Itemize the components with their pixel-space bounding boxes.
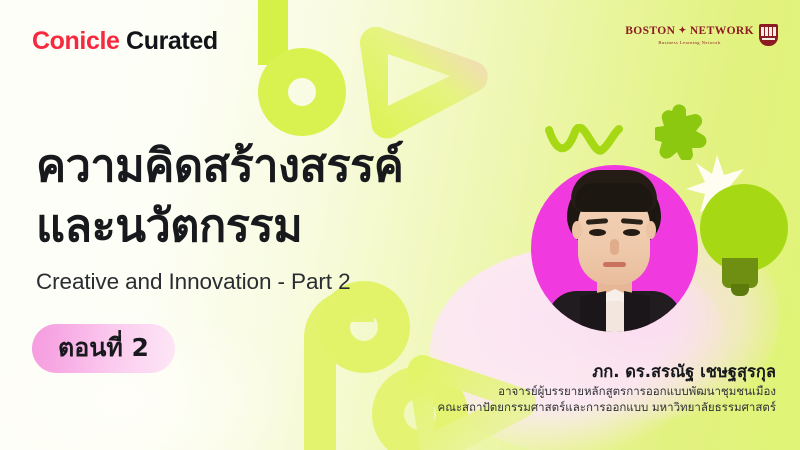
- puzzle-piece-shape: [655, 104, 713, 160]
- starburst-shape: [686, 155, 748, 217]
- course-title-th-line1: ความคิดสร้างสรรค์: [36, 136, 506, 196]
- boston-network-name: BOSTON ✦ NETWORK: [625, 25, 754, 38]
- network-word: NETWORK: [690, 25, 754, 37]
- conicle-wordmark: Conicle: [32, 27, 120, 55]
- course-banner-card: Conicle Curated BOSTON ✦ NETWORK Busines…: [0, 0, 800, 450]
- spiral-six-shape-bottom-ring: [318, 281, 410, 373]
- conicle-curated-logo: Conicle Curated: [32, 29, 218, 54]
- cream-blob-shape: [0, 300, 290, 450]
- speaker-credit-block: ภก. ดร.สรณัฐ เชษฐสุรกุล อาจารย์ผู้บรรยาย…: [438, 362, 777, 416]
- lightbulb-base-shape: [722, 258, 758, 288]
- episode-badge: ตอนที่ 2: [32, 324, 175, 373]
- course-title-th-line2: และนวัตกรรม: [36, 196, 506, 256]
- speaker-portrait-avatar: [531, 165, 698, 332]
- curated-wordmark: Curated: [126, 27, 218, 55]
- squiggle-shape: [545, 124, 623, 158]
- spiral-six-shape-top-ring: [258, 48, 346, 136]
- speaker-name: ภก. ดร.สรณัฐ เชษฐสุรกุล: [438, 362, 777, 383]
- diamond-icon: ✦: [679, 25, 687, 35]
- boston-network-tagline: Business Learning Network: [625, 40, 754, 45]
- boston-network-logo: BOSTON ✦ NETWORK Business Learning Netwo…: [625, 24, 778, 46]
- speaker-role-line1: อาจารย์ผู้บรรยายหลักสูตรการออกแบบพัฒนาชุ…: [438, 384, 777, 400]
- spiral-six-shape-bottom-tail: [304, 290, 374, 450]
- shield-crest-icon: [759, 24, 778, 46]
- course-subtitle-en: Creative and Innovation - Part 2: [36, 269, 506, 295]
- boston-word: BOSTON: [625, 25, 675, 37]
- lightbulb-tip-shape: [731, 284, 749, 296]
- send-arrow-shape-top: [340, 10, 500, 145]
- spiral-six-shape-top-tail: [258, 0, 320, 65]
- speaker-role-line2: คณะสถาปัตยกรรมศาสตร์และการออกแบบ มหาวิทย…: [438, 400, 777, 416]
- lightbulb-shape: [700, 184, 788, 272]
- headline-block: ความคิดสร้างสรรค์ และนวัตกรรม Creative a…: [36, 136, 506, 295]
